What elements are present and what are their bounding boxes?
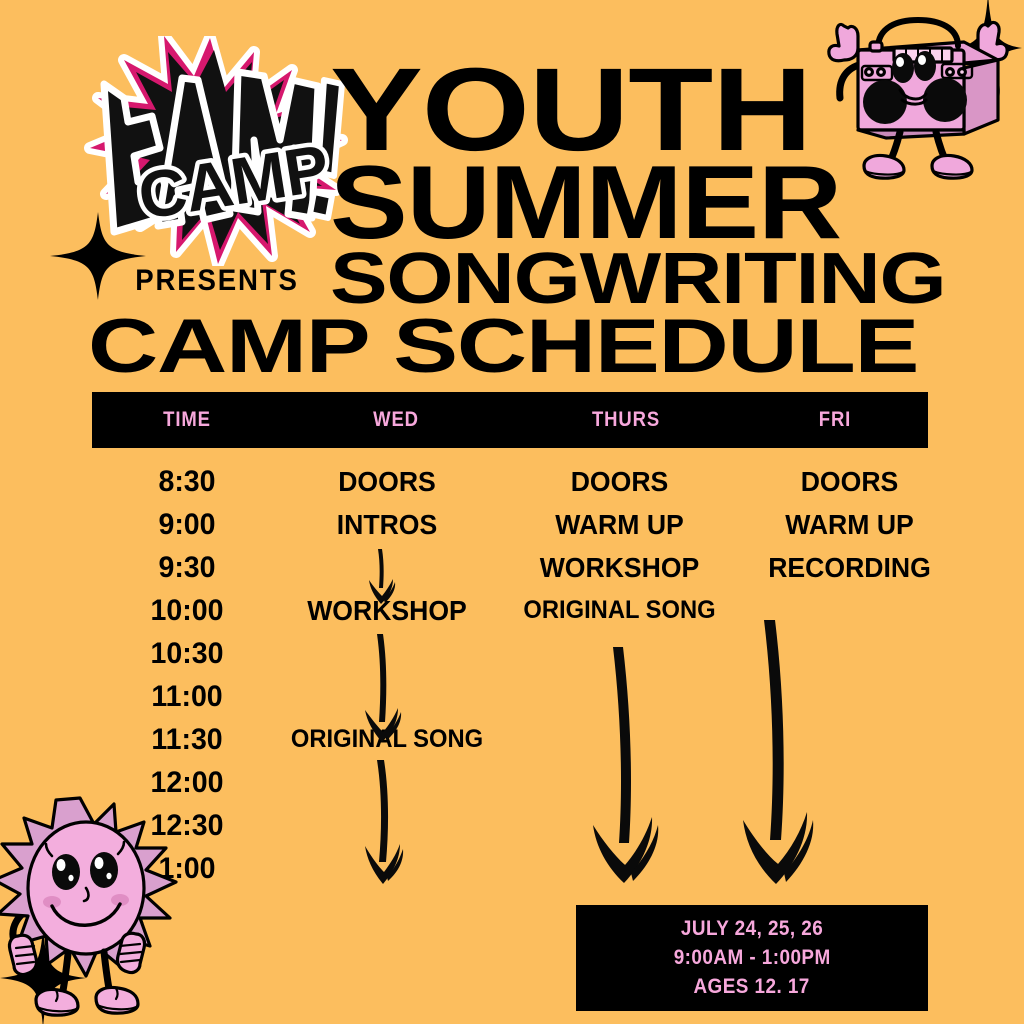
presents-label: PRESENTS — [111, 264, 323, 298]
event-cell-thurs: WORKSHOP — [503, 546, 736, 589]
info-ages: AGES 12. 17 — [694, 975, 810, 999]
time-cell: 10:30 — [97, 632, 278, 675]
title-line-camp-schedule: CAMP SCHEDULE — [88, 303, 918, 390]
time-cell: 8:30 — [97, 460, 278, 503]
arrow-fri-1 — [737, 618, 823, 886]
poster-canvas: CAMP PRESENTS YOUTH SUMMER SONGWRITING C… — [0, 0, 1024, 1024]
event-cell-fri: DOORS — [747, 460, 951, 503]
boombox-character — [812, 2, 1024, 182]
arrow-wed-1 — [360, 548, 406, 606]
sun-character — [0, 796, 184, 1024]
event-cell-thurs: ORIGINAL SONG — [503, 589, 736, 632]
title-line-songwriting: SONGWRITING — [330, 250, 1024, 309]
time-cell: 9:00 — [97, 503, 278, 546]
event-cell-thurs: DOORS — [503, 460, 736, 503]
time-cell: 9:30 — [97, 546, 278, 589]
event-cell-fri: RECORDING — [747, 546, 951, 589]
event-cell-fri: WARM UP — [747, 503, 951, 546]
time-cell: 11:00 — [97, 675, 278, 718]
info-dates: JULY 24, 25, 26 — [681, 917, 823, 941]
arrow-thurs-1 — [587, 645, 667, 885]
event-cell-wed: DOORS — [278, 460, 497, 503]
time-cell: 10:00 — [97, 589, 278, 632]
time-cell: 11:30 — [97, 718, 278, 761]
header-cell-thurs: THURS — [524, 408, 728, 432]
header-cell-wed: WED — [296, 408, 497, 432]
logo-block: CAMP PRESENTS — [78, 36, 348, 306]
arrow-wed-2 — [358, 632, 410, 744]
header-cell-fri: FRI — [753, 408, 917, 432]
header-cell-time: TIME — [103, 408, 270, 432]
schedule-grid: 8:30 9:00 9:30 10:00 10:30 11:00 11:30 1… — [92, 460, 952, 900]
arrow-wed-3 — [358, 758, 412, 886]
info-hours: 9:00AM - 1:00PM — [674, 946, 831, 970]
event-cell-wed: INTROS — [278, 503, 497, 546]
bam-camp-logo-icon: CAMP — [78, 36, 348, 266]
event-cell-thurs: WARM UP — [503, 503, 736, 546]
info-box: JULY 24, 25, 26 9:00AM - 1:00PM AGES 12.… — [576, 905, 928, 1011]
schedule-header-bar: TIME WED THURS FRI — [92, 392, 928, 448]
